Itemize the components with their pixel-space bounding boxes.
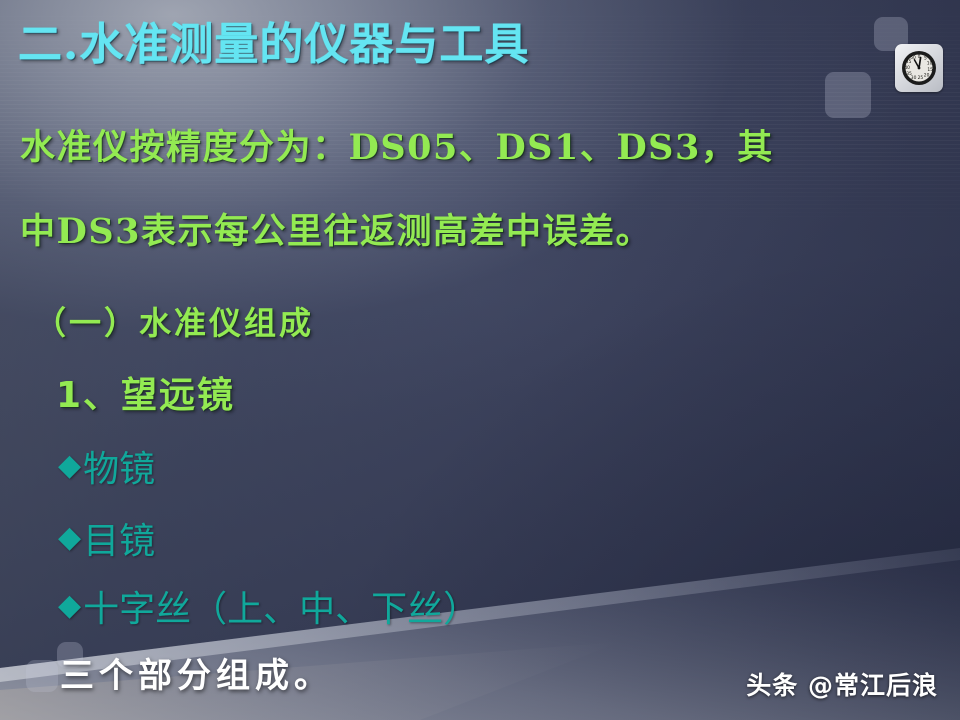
svg-text:35: 35 <box>906 71 912 77</box>
body-paragraph-line-1: 水准仪按精度分为：DS05、DS1、DS3，其 <box>20 130 774 165</box>
deco-square-bottom-left-large <box>26 660 58 692</box>
watermark: 头条 @常江后浪 <box>746 666 938 702</box>
diamond-bullet-icon: ◆ <box>58 591 81 621</box>
svg-text:20: 20 <box>924 72 930 78</box>
svg-text:40: 40 <box>904 65 910 71</box>
svg-text:15: 15 <box>927 67 933 73</box>
numbered-item-1: 1、望远镜 <box>56 366 235 418</box>
bullet-label: 十字丝（上、中、下丝） <box>83 580 479 632</box>
bullet-item-eyepiece: ◆ 目镜 <box>58 512 155 564</box>
deco-square-top-right-large <box>825 72 871 118</box>
diamond-bullet-icon: ◆ <box>58 523 81 553</box>
svg-text:25: 25 <box>918 75 924 81</box>
bullet-item-objective-lens: ◆ 物镜 <box>58 440 155 492</box>
stopwatch-face-icon: 0 5 10 15 20 25 30 35 40 45 50 <box>899 48 939 88</box>
bullet-label: 目镜 <box>83 512 155 564</box>
section-heading: （一）水准仪组成 <box>34 298 314 344</box>
stopwatch-dial-icon: 0 5 10 15 20 25 30 35 40 45 50 <box>895 44 943 92</box>
bullet-label: 物镜 <box>83 440 155 492</box>
bullet-item-crosshairs: ◆ 十字丝（上、中、下丝） <box>58 580 479 632</box>
diamond-bullet-icon: ◆ <box>58 451 81 481</box>
presentation-slide: 0 5 10 15 20 25 30 35 40 45 50 二.水准测量的仪器… <box>0 0 960 720</box>
page-title: 二.水准测量的仪器与工具 <box>18 23 529 67</box>
svg-text:10: 10 <box>927 60 933 66</box>
closing-line: 三个部分组成。 <box>60 648 333 697</box>
body-paragraph-line-2: 中DS3表示每公里往返测高差中误差。 <box>20 214 652 249</box>
